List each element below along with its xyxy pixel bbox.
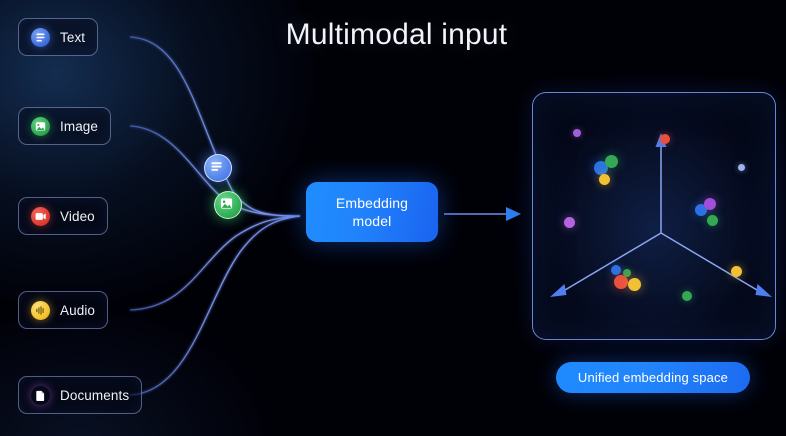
embedding-space-panel: [532, 92, 776, 340]
embedding-point: [614, 275, 628, 289]
model-label-line1: Embedding: [336, 195, 408, 211]
embedding-point: [731, 266, 742, 277]
embedding-model-box[interactable]: Embedding model: [306, 182, 438, 242]
embedding-point: [605, 155, 618, 168]
input-chip-video[interactable]: Video: [18, 197, 108, 235]
document-icon: [31, 386, 50, 405]
embedding-point: [564, 217, 575, 228]
embedding-point: [611, 265, 621, 275]
input-chip-label: Audio: [60, 303, 95, 318]
text-node-badge: [204, 154, 232, 182]
slide-canvas: Multimodal input Text Image: [0, 0, 786, 436]
embedding-model-label: Embedding model: [336, 194, 408, 230]
input-chip-label: Text: [60, 30, 85, 45]
embedding-point: [628, 278, 641, 291]
input-chip-text[interactable]: Text: [18, 18, 98, 56]
video-camera-icon: [31, 207, 50, 226]
image-node-badge: [214, 191, 242, 219]
embedding-point: [599, 174, 610, 185]
embedding-point: [738, 164, 745, 171]
input-chip-label: Image: [60, 119, 98, 134]
picture-icon: [31, 117, 50, 136]
text-lines-icon: [31, 28, 50, 47]
embedding-point: [573, 129, 581, 137]
unified-embedding-space-pill[interactable]: Unified embedding space: [556, 362, 750, 393]
embedding-point: [704, 198, 716, 210]
embedding-point: [660, 134, 670, 144]
input-chip-audio[interactable]: Audio: [18, 291, 108, 329]
waveform-icon: [31, 301, 50, 320]
embedding-point: [707, 215, 718, 226]
input-chip-image[interactable]: Image: [18, 107, 111, 145]
input-chip-label: Documents: [60, 388, 129, 403]
embedding-point: [682, 291, 692, 301]
model-label-line2: model: [353, 213, 392, 229]
arrow-to-panel: [444, 207, 521, 221]
pill-label: Unified embedding space: [578, 370, 728, 385]
input-chip-label: Video: [60, 209, 95, 224]
page-title: Multimodal input: [274, 16, 519, 54]
input-chip-documents[interactable]: Documents: [18, 376, 142, 414]
